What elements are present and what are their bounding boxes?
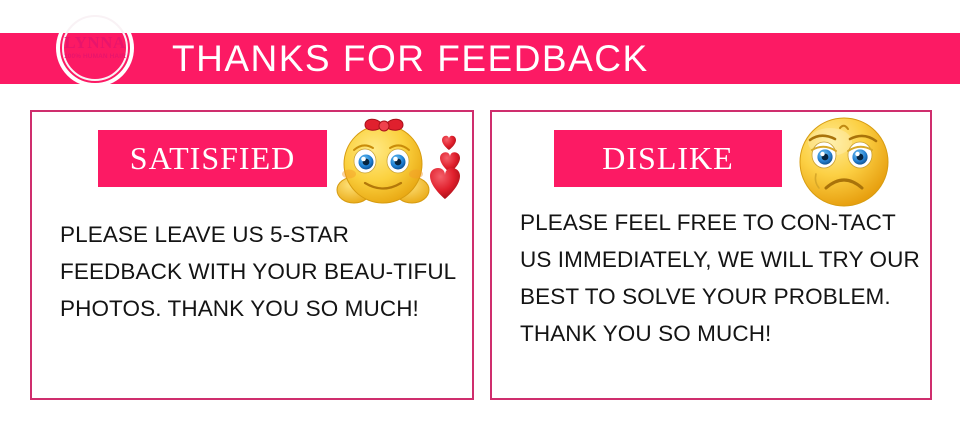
smiling-face-with-hearts-icon (332, 116, 472, 212)
satisfied-instruction-text: PLEASE LEAVE US 5-STAR FEEDBACK WITH YOU… (60, 216, 460, 327)
badge-satisfied: SATISFIED (98, 130, 327, 187)
brand-logo: LYNNA 100% HUMAN HAIR (56, 9, 134, 87)
panel-dislike: DISLIKE (490, 110, 932, 400)
page-title: THANKS FOR FEEDBACK (172, 33, 649, 84)
logo-tagline: 100% HUMAN HAIR (56, 53, 134, 61)
logo-brand-name: LYNNA (56, 34, 134, 51)
sad-pensive-face-icon (788, 112, 908, 212)
badge-dislike: DISLIKE (554, 130, 782, 187)
dislike-instruction-text: PLEASE FEEL FREE TO CON-TACT US IMMEDIAT… (520, 204, 920, 352)
panel-satisfied: SATISFIED (30, 110, 474, 400)
